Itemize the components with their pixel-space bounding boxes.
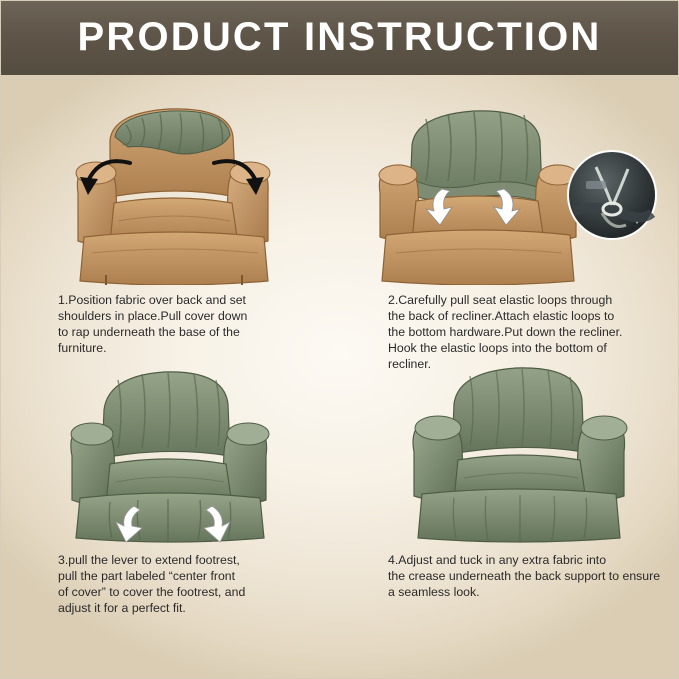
- step-4: 4.Adjust and tuck in any extra fabric in…: [350, 360, 679, 601]
- step-4-image: [350, 360, 679, 545]
- step-1: 1.Position fabric over back and set shou…: [18, 85, 348, 357]
- step-1-caption: 1.Position fabric over back and set shou…: [58, 293, 348, 357]
- step-4-caption: 4.Adjust and tuck in any extra fabric in…: [388, 553, 679, 601]
- product-instruction-page: PRODUCT INSTRUCTION: [0, 0, 679, 679]
- page-header: PRODUCT INSTRUCTION: [0, 0, 679, 75]
- step-3: 3.pull the lever to extend footrest, pul…: [18, 360, 348, 617]
- step-3-image: [18, 360, 348, 545]
- step-1-image: [18, 85, 348, 285]
- page-title: PRODUCT INSTRUCTION: [77, 15, 601, 60]
- svg-text:•: •: [636, 221, 638, 227]
- step-3-caption: 3.pull the lever to extend footrest, pul…: [58, 553, 348, 617]
- step-2-image: •: [350, 85, 679, 285]
- step-2: • 2.Carefully pull seat elastic loops th…: [350, 85, 679, 373]
- steps-grid: 1.Position fabric over back and set shou…: [0, 75, 679, 679]
